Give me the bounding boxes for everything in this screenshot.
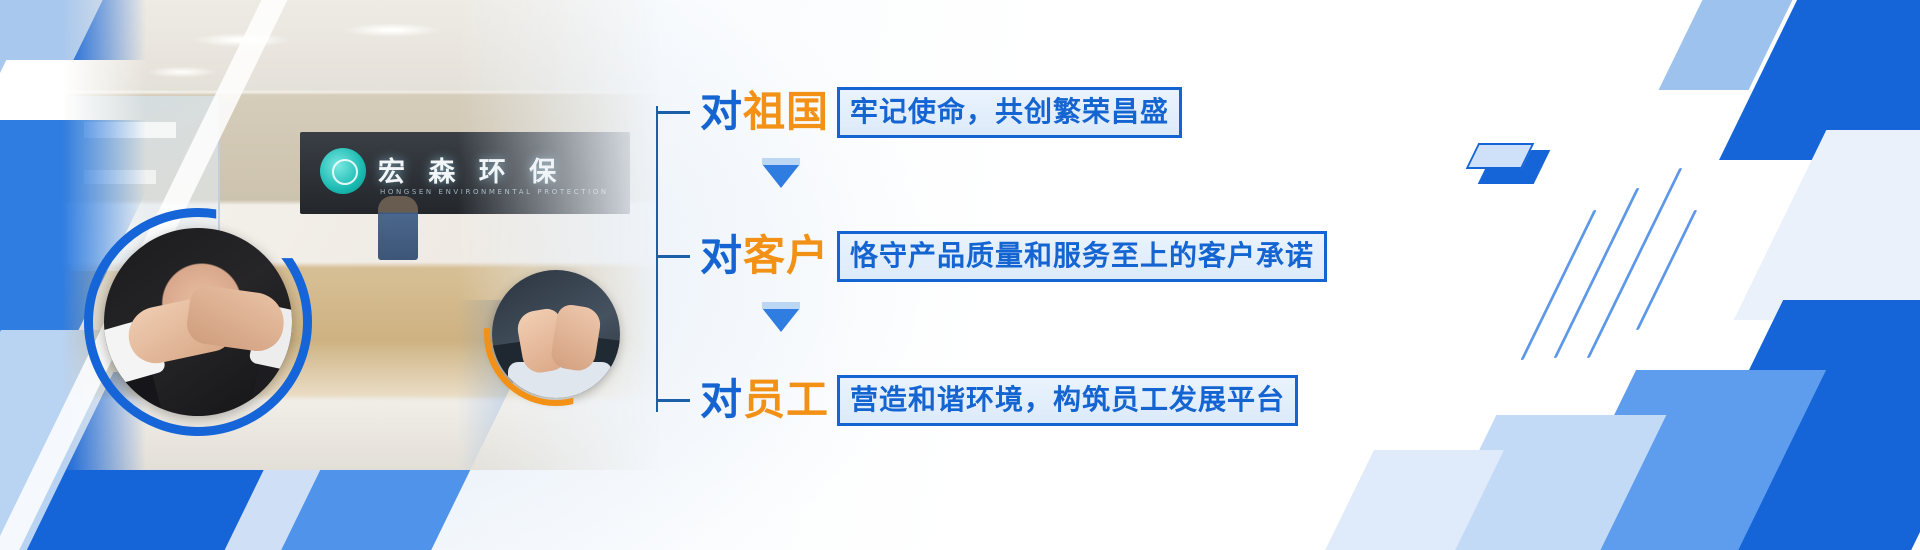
- promo-banner: 宏 森 环 保 HONGSEN ENVIRONMENTAL PROTECTION: [0, 0, 1920, 550]
- chevron-down-icon-1: [762, 164, 800, 188]
- commitment-tick-3: [656, 399, 690, 402]
- commitment-phrase-1: 牢记使命，共创繁荣昌盛: [837, 87, 1182, 138]
- commitment-target-2: 客户: [743, 231, 829, 280]
- commitment-headline-3: 对员工: [700, 379, 829, 421]
- commitment-row-1: 对祖国 牢记使命，共创繁荣昌盛: [656, 84, 1182, 140]
- commitment-target-3: 员工: [743, 375, 829, 424]
- commitments-list: 对祖国 牢记使命，共创繁荣昌盛 对客户 恪守产品质量和服务至上的客户承诺 对员工…: [656, 84, 1356, 436]
- commitment-prefix-3: 对: [700, 375, 743, 424]
- chevron-down-icon-2: [762, 308, 800, 332]
- commitment-headline-2: 对客户: [700, 235, 829, 277]
- company-name-sign-subtitle: HONGSEN ENVIRONMENTAL PROTECTION: [380, 188, 609, 196]
- commitment-tick-2: [656, 255, 690, 258]
- commitment-headline-1: 对祖国: [700, 91, 829, 133]
- company-name-sign: 宏 森 环 保: [378, 150, 563, 189]
- commitment-tick-1: [656, 111, 690, 114]
- commitment-phrase-2: 恪守产品质量和服务至上的客户承诺: [837, 231, 1327, 282]
- commitment-row-2: 对客户 恪守产品质量和服务至上的客户承诺: [656, 228, 1327, 284]
- commitment-row-3: 对员工 营造和谐环境，构筑员工发展平台: [656, 372, 1298, 428]
- commitment-prefix-1: 对: [700, 87, 743, 136]
- commitment-phrase-3: 营造和谐环境，构筑员工发展平台: [837, 375, 1298, 426]
- reception-staff: [378, 196, 418, 260]
- company-logo-icon: [320, 148, 366, 194]
- commitment-target-1: 祖国: [743, 87, 829, 136]
- commitment-prefix-2: 对: [700, 231, 743, 280]
